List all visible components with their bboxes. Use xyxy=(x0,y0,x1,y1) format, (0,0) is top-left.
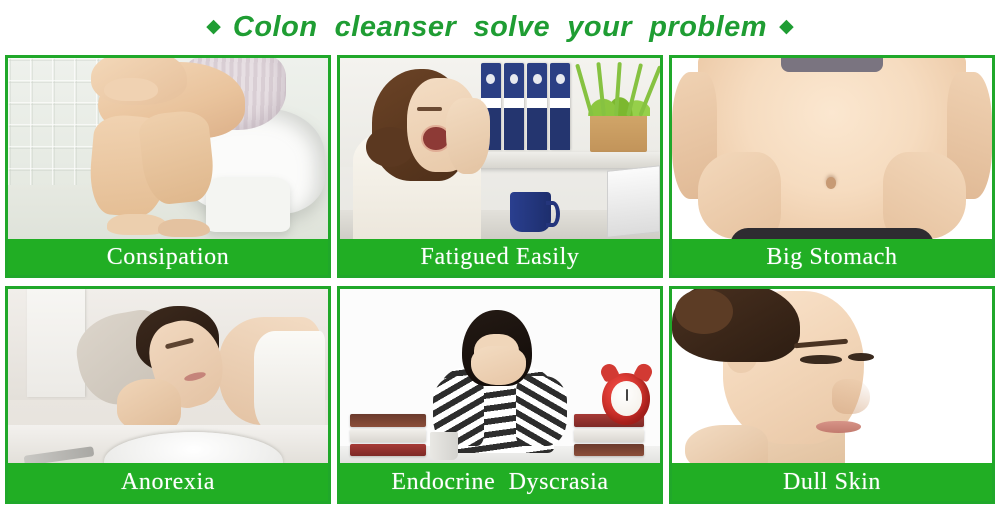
promo-banner: ◆ Colon cleanser solve your problem ◆ xyxy=(0,0,1000,508)
symptom-card-endocrine-dyscrasia[interactable]: Endocrine Dyscrasia xyxy=(337,286,663,504)
diamond-right-icon: ◆ xyxy=(779,17,794,36)
big-stomach-photo xyxy=(672,58,992,239)
caption-dull-skin: Dull Skin xyxy=(672,463,992,501)
plate-icon xyxy=(8,289,328,463)
belly-icon xyxy=(672,58,992,239)
diamond-left-icon: ◆ xyxy=(206,17,221,36)
symptom-card-grid: Consipation xyxy=(0,55,1000,504)
anorexia-photo xyxy=(8,289,328,463)
symptom-card-consipation[interactable]: Consipation xyxy=(5,55,331,278)
caption-endocrine-dyscrasia: Endocrine Dyscrasia xyxy=(340,463,660,501)
endocrine-dyscrasia-photo xyxy=(340,289,660,463)
symptom-card-big-stomach[interactable]: Big Stomach xyxy=(669,55,995,278)
stress-icon xyxy=(340,289,660,463)
yawn-icon xyxy=(340,58,660,239)
caption-fatigued-easily: Fatigued Easily xyxy=(340,239,660,275)
symptom-card-fatigued-easily[interactable]: Fatigued Easily xyxy=(337,55,663,278)
caption-consipation: Consipation xyxy=(8,239,328,275)
consipation-photo xyxy=(8,58,328,239)
toilet-icon xyxy=(8,58,328,239)
fatigued-photo xyxy=(340,58,660,239)
dull-skin-photo xyxy=(672,289,992,463)
symptom-card-dull-skin[interactable]: Dull Skin xyxy=(669,286,995,504)
caption-anorexia: Anorexia xyxy=(8,463,328,501)
face-icon xyxy=(672,289,992,463)
banner-title-row: ◆ Colon cleanser solve your problem ◆ xyxy=(0,0,1000,55)
caption-big-stomach: Big Stomach xyxy=(672,239,992,275)
banner-title: Colon cleanser solve your problem xyxy=(233,11,767,44)
symptom-card-anorexia[interactable]: Anorexia xyxy=(5,286,331,504)
